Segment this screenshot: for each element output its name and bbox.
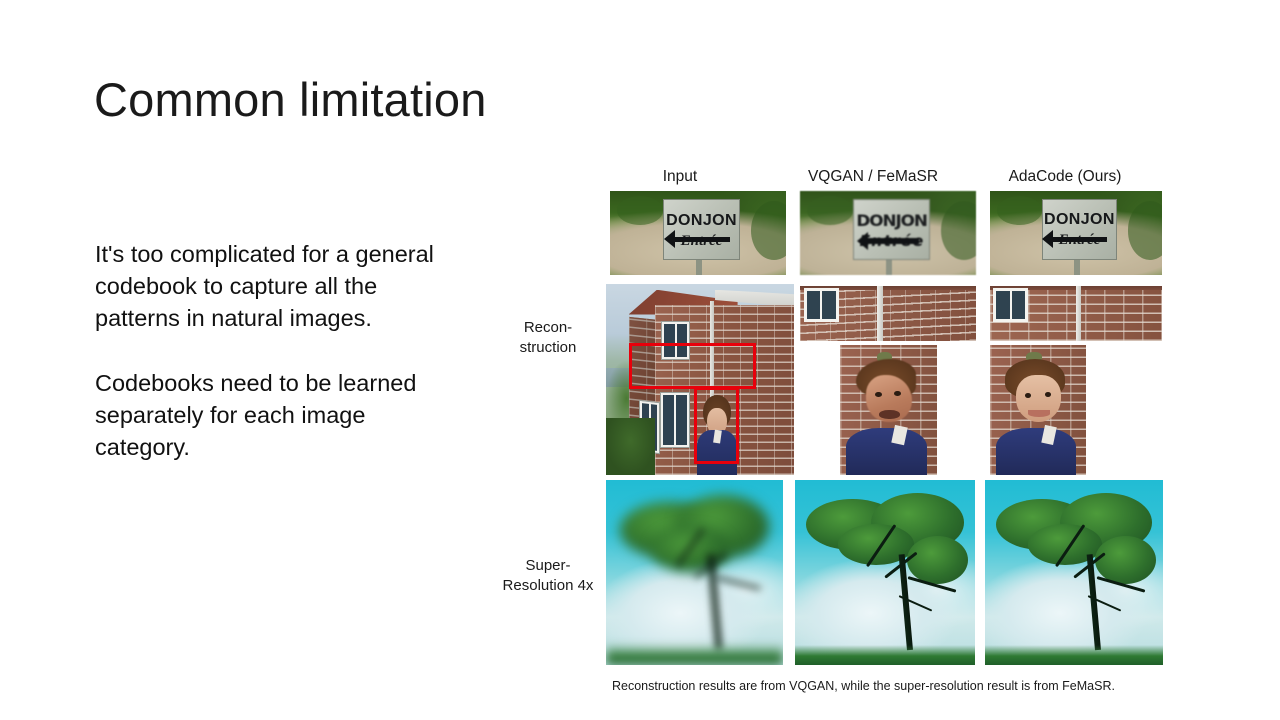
- image-portrait-crop-adacode: [990, 345, 1086, 475]
- column-header-input: Input: [590, 168, 770, 186]
- column-header-adacode-ours: AdaCode (Ours): [970, 168, 1160, 186]
- window-lower: [661, 393, 689, 447]
- image-tree-adacode: [985, 480, 1163, 665]
- page-title: Common limitation: [94, 74, 487, 126]
- hedge-blob: [1128, 201, 1162, 260]
- slide-canvas: Common limitation It's too complicated f…: [0, 0, 1280, 720]
- trunk: [707, 554, 721, 650]
- image-tree-input: [606, 480, 783, 665]
- torso: [846, 428, 927, 475]
- left-arrow-icon: [1051, 237, 1107, 242]
- canopy-lower: [1095, 536, 1156, 584]
- sign-scene: DONJON Entrée: [800, 191, 976, 275]
- body-paragraph-2: Codebooks need to be learned separately …: [95, 367, 445, 464]
- image-sign-adacode: DONJON Entrée: [990, 191, 1162, 275]
- left-arrow-icon: [673, 237, 730, 242]
- window-crop: [804, 288, 839, 322]
- brick-crop: [990, 286, 1162, 341]
- ground-vegetation: [606, 645, 783, 665]
- sign-board: DONJON Entrée: [1042, 199, 1118, 259]
- ground-vegetation: [795, 645, 975, 665]
- ground-vegetation: [985, 645, 1163, 665]
- brick-crop: [800, 286, 976, 341]
- row-label-reconstruction-line2: struction: [488, 338, 608, 358]
- sign-board: DONJON Entrée: [663, 199, 740, 259]
- tree-scene: [795, 480, 975, 665]
- sign-text-line1: DONJON: [1044, 212, 1115, 228]
- left-arrow-icon: [866, 238, 919, 244]
- window-crop: [993, 288, 1027, 322]
- row-label-super-resolution-line1: Super-: [488, 556, 608, 576]
- canopy-center: [652, 528, 730, 572]
- bush: [606, 418, 655, 475]
- image-sign-vqgan: DONJON Entrée: [800, 191, 976, 275]
- sign-scene: DONJON Entrée: [990, 191, 1162, 275]
- body-copy: It's too complicated for a general codeb…: [95, 238, 445, 463]
- row-label-reconstruction-line1: Recon-: [488, 318, 608, 338]
- branch-2: [715, 576, 760, 590]
- figure-footnote: Reconstruction results are from VQGAN, w…: [612, 679, 1115, 693]
- torso: [996, 428, 1077, 475]
- sign-board: DONJON Entrée: [853, 199, 930, 259]
- image-brick-crop-vqgan: [800, 286, 976, 341]
- image-portrait-crop-vqgan: [840, 345, 937, 475]
- mouth: [1028, 410, 1049, 417]
- row-label-reconstruction: Recon- struction: [488, 318, 608, 358]
- sign-text-line1: DONJON: [856, 213, 927, 229]
- hedge-blob: [751, 201, 786, 260]
- image-brick-crop-adacode: [990, 286, 1162, 341]
- image-tree-femasr: [795, 480, 975, 665]
- comparison-figure: Input VQGAN / FeMaSR AdaCode (Ours) Reco…: [480, 160, 1180, 705]
- foliage-blob: [997, 196, 1042, 225]
- drainpipe-crop: [1076, 286, 1081, 341]
- body-paragraph-1: It's too complicated for a general codeb…: [95, 238, 445, 335]
- sign-text-line1: DONJON: [666, 213, 737, 229]
- mouth: [879, 410, 900, 419]
- canopy-lower: [907, 536, 968, 584]
- hedge-blob: [941, 201, 976, 260]
- row-label-super-resolution-line2: Resolution 4x: [488, 576, 608, 596]
- image-house-input: [606, 284, 794, 475]
- eye-right: [894, 391, 901, 396]
- eye-left: [875, 392, 882, 397]
- foliage-blob: [807, 196, 853, 225]
- column-header-vqgan-femasr: VQGAN / FeMaSR: [778, 168, 968, 186]
- house-scene: [606, 284, 794, 475]
- portrait-crop: [840, 345, 937, 475]
- portrait-crop: [990, 345, 1086, 475]
- row-label-super-resolution: Super- Resolution 4x: [488, 556, 608, 596]
- tree-scene: [985, 480, 1163, 665]
- annotation-box-brick: [629, 343, 757, 389]
- image-sign-input: DONJON Entrée: [610, 191, 786, 275]
- sign-scene: DONJON Entrée: [610, 191, 786, 275]
- drainpipe-crop: [877, 286, 882, 341]
- foliage-blob: [617, 196, 663, 225]
- annotation-box-face: [694, 387, 739, 463]
- tree-scene: [606, 480, 783, 665]
